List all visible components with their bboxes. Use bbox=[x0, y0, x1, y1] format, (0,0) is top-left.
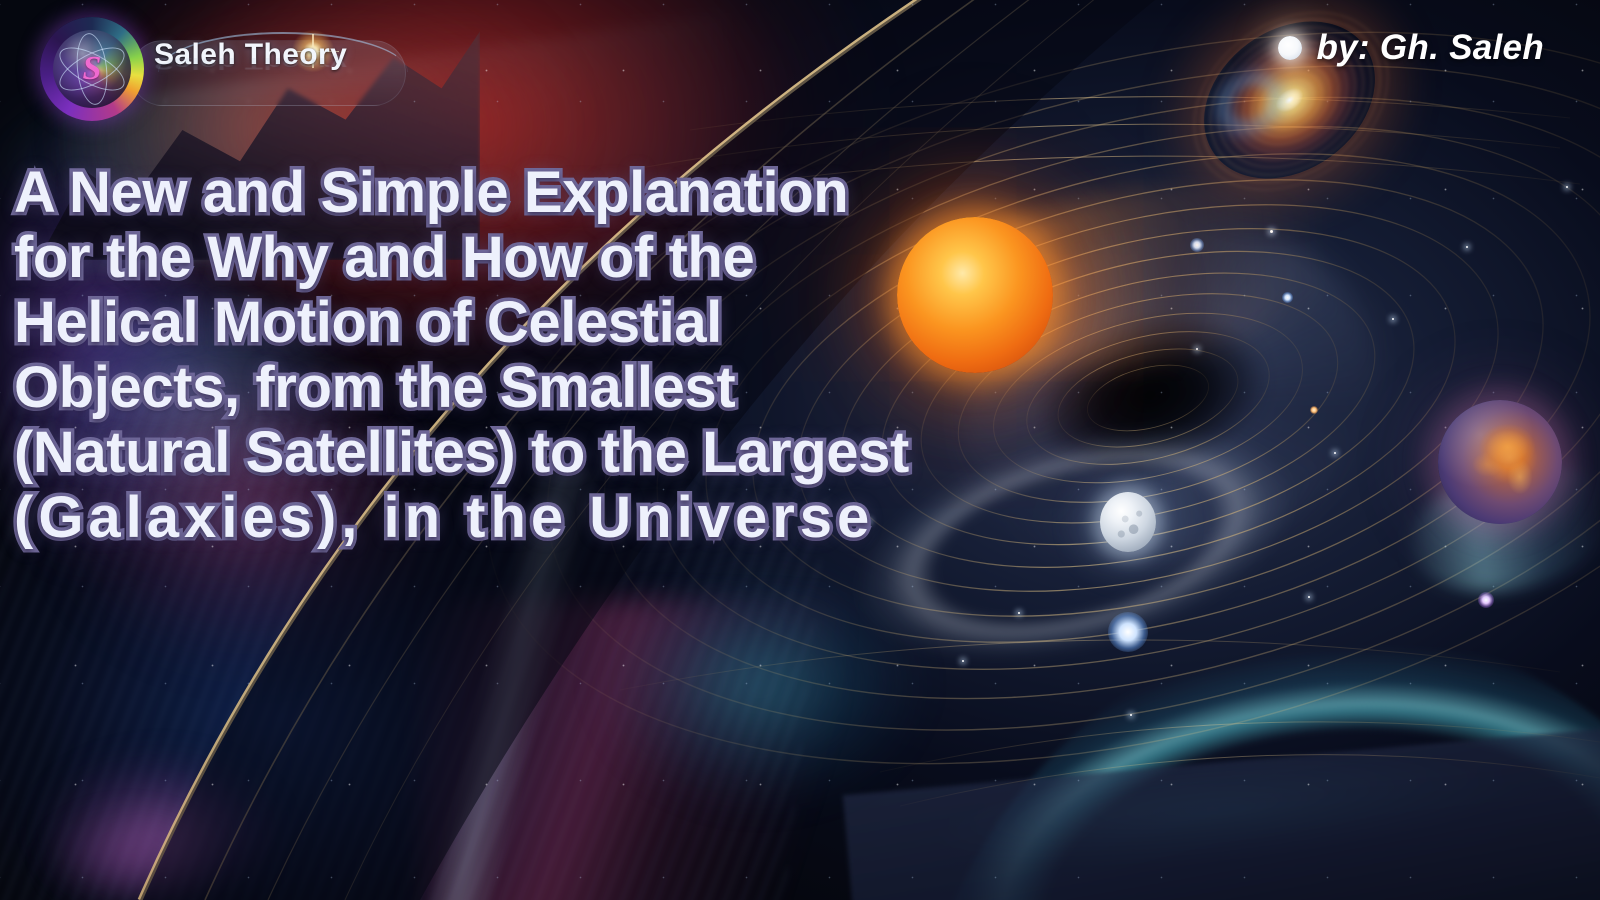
pink-nebula-bottom-right bbox=[0, 720, 330, 900]
brand-name-group: Saleh Theory Saleh Theory bbox=[154, 40, 347, 101]
saleh-theory-orb-logo-icon: S bbox=[40, 17, 144, 121]
logo-monogram: S bbox=[83, 52, 102, 86]
logo-orb-inner: S bbox=[53, 30, 131, 108]
title-line: (Galaxies), in the Universe bbox=[14, 485, 974, 550]
cyan-glow-center-bottom bbox=[560, 520, 980, 850]
pink-streak-lower-left bbox=[420, 600, 840, 900]
byline: by: Gh. Saleh bbox=[1278, 28, 1544, 68]
byline-text: by: Gh. Saleh bbox=[1316, 28, 1544, 68]
title-line: (Natural Satellites) to the Largest bbox=[14, 420, 974, 485]
banner-stage: S Saleh Theory Saleh Theory by: Gh. Sale… bbox=[0, 0, 1600, 900]
pink-nebula-bottom-center bbox=[0, 770, 270, 900]
title-line: Helical Motion of Celestial bbox=[14, 290, 974, 355]
brand-logo[interactable]: S Saleh Theory Saleh Theory bbox=[46, 26, 406, 116]
planet bbox=[1438, 400, 1562, 524]
page-title: A New and Simple Explanation for the Why… bbox=[14, 160, 974, 550]
title-line: Objects, from the Smallest bbox=[14, 355, 974, 420]
moon-craters bbox=[1100, 492, 1156, 552]
title-line: for the Why and How of the bbox=[14, 225, 974, 290]
planet-surface-band bbox=[843, 726, 1600, 900]
cyan-planet-limb bbox=[855, 584, 1600, 900]
brand-name-reflection: Saleh Theory bbox=[154, 54, 347, 71]
bright-star-dot-icon bbox=[1278, 36, 1302, 60]
title-line: A New and Simple Explanation bbox=[14, 160, 974, 225]
moon bbox=[1100, 492, 1156, 552]
planet-landmass bbox=[1438, 400, 1562, 524]
